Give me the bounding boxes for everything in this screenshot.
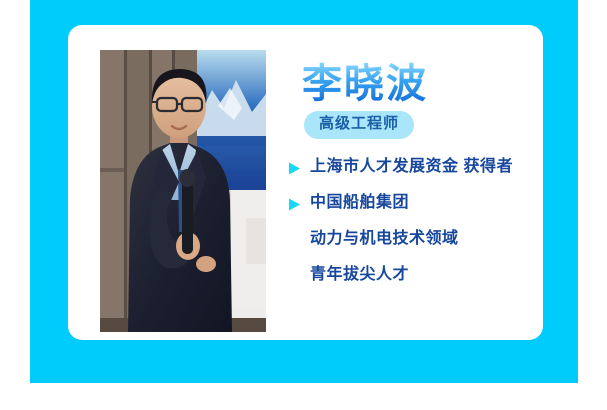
- credential-text: 青年拔尖人才: [310, 265, 409, 285]
- profile-name-text: 李晓波 李晓波 李晓波: [298, 59, 538, 109]
- credentials-list: 上海市人才发展资金 获得者 中国船舶集团: [288, 157, 536, 301]
- profile-info: 李晓波 李晓波 李晓波 高级工程师 上海市人才发展资金 获得: [286, 59, 536, 301]
- credential-text: 中国船舶集团: [310, 193, 409, 213]
- svg-text:李晓波: 李晓波: [302, 62, 428, 106]
- profile-name: 李晓波 李晓波 李晓波: [298, 59, 536, 105]
- profile-card-screenshot: 李晓波 李晓波 李晓波 高级工程师 上海市人才发展资金 获得: [0, 0, 607, 410]
- credential-item: 上海市人才发展资金 获得者: [288, 157, 536, 193]
- profile-card: 李晓波 李晓波 李晓波 高级工程师 上海市人才发展资金 获得: [68, 25, 543, 340]
- triangle-bullet-icon: [288, 193, 310, 211]
- credential-item-continuation: 青年拔尖人才: [288, 265, 536, 301]
- credential-item: 中国船舶集团: [288, 193, 536, 229]
- credential-item-continuation: 动力与机电技术领域: [288, 229, 536, 265]
- speaker-photo: [100, 50, 266, 332]
- credential-text: 动力与机电技术领域: [310, 229, 459, 249]
- job-title-badge: 高级工程师: [304, 111, 414, 139]
- credential-text: 上海市人才发展资金 获得者: [310, 157, 513, 177]
- triangle-bullet-icon: [288, 157, 310, 175]
- speaker-photo-image: [100, 50, 266, 332]
